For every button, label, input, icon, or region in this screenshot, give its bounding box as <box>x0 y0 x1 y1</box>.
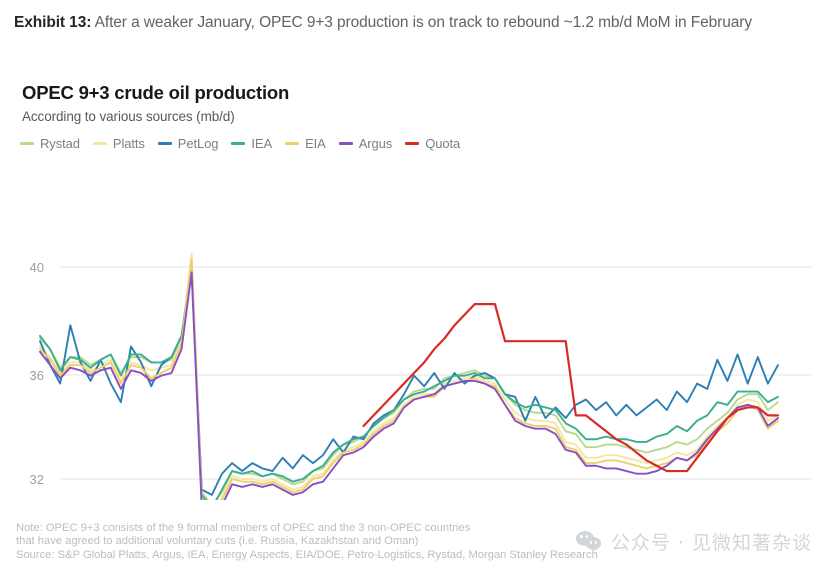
legend-label: Platts <box>113 136 145 151</box>
chart-legend: RystadPlattsPetLogIEAEIAArgusQuota <box>20 136 473 151</box>
legend-label: Argus <box>359 136 392 151</box>
chart-subtitle: According to various sources (mb/d) <box>22 109 235 124</box>
legend-label: Quota <box>425 136 460 151</box>
exhibit-text: After a weaker January, OPEC 9+3 product… <box>95 14 752 31</box>
legend-swatch-icon <box>20 142 34 145</box>
legend-label: IEA <box>251 136 272 151</box>
legend-item-iea[interactable]: IEA <box>231 136 272 151</box>
y-axis-tick-label: 32 <box>30 472 44 487</box>
exhibit-label: Exhibit 13: <box>14 14 91 31</box>
legend-swatch-icon <box>285 142 299 145</box>
legend-swatch-icon <box>231 142 245 145</box>
wechat-icon <box>576 531 602 552</box>
series-line-petlog <box>40 272 778 495</box>
y-axis-tick-label: 36 <box>30 368 44 383</box>
legend-swatch-icon <box>158 142 172 145</box>
plot-area: 403632202020222024 <box>0 170 830 500</box>
line-chart-svg: 403632202020222024 <box>0 170 830 500</box>
legend-label: PetLog <box>178 136 219 151</box>
legend-item-eia[interactable]: EIA <box>285 136 326 151</box>
series-line-quota <box>364 304 778 471</box>
legend-swatch-icon <box>405 142 419 145</box>
legend-item-argus[interactable]: Argus <box>339 136 392 151</box>
legend-swatch-icon <box>93 142 107 145</box>
legend-label: Rystad <box>40 136 80 151</box>
chart-title: OPEC 9+3 crude oil production <box>22 82 289 104</box>
chart-card: OPEC 9+3 crude oil production According … <box>0 70 830 530</box>
legend-item-petlog[interactable]: PetLog <box>158 136 219 151</box>
legend-item-platts[interactable]: Platts <box>93 136 145 151</box>
watermark: 公众号 · 见微知著杂谈 <box>576 528 812 555</box>
y-axis-tick-label: 40 <box>30 260 44 275</box>
exhibit-header: Exhibit 13: After a weaker January, OPEC… <box>14 8 814 38</box>
legend-item-quota[interactable]: Quota <box>405 136 460 151</box>
legend-label: EIA <box>305 136 326 151</box>
legend-swatch-icon <box>339 142 353 145</box>
watermark-text: 公众号 · 见微知著杂谈 <box>611 528 812 555</box>
legend-item-rystad[interactable]: Rystad <box>20 136 80 151</box>
